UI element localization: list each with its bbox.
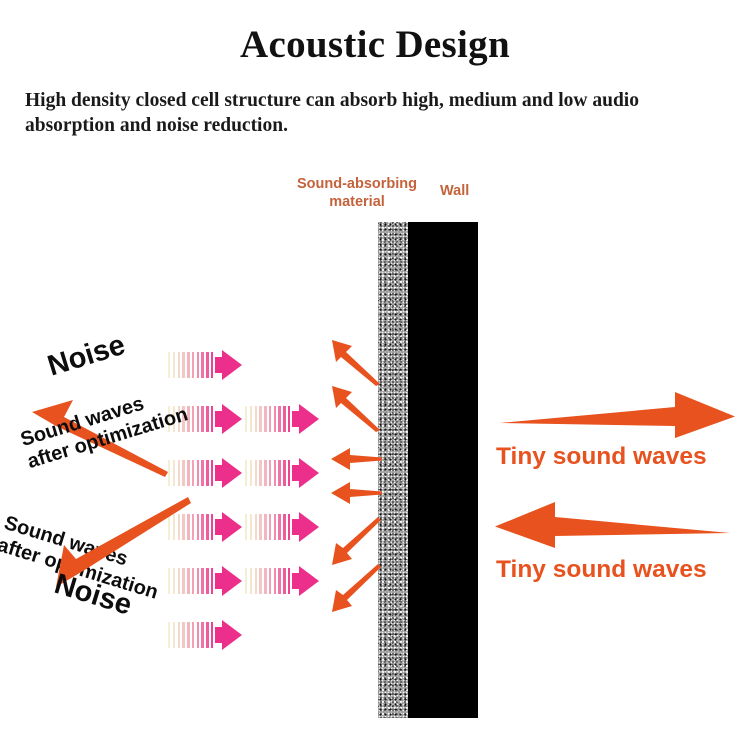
wave-arrow-neck bbox=[215, 465, 222, 481]
wave-bars bbox=[168, 352, 216, 378]
wave-arrow-neck bbox=[215, 519, 222, 535]
reflection-arrow-up-left bbox=[330, 382, 382, 432]
wave-arrow-neck bbox=[292, 573, 299, 589]
wave-arrow-neck bbox=[215, 627, 222, 643]
wave-bars bbox=[245, 460, 293, 486]
wave-bars bbox=[168, 460, 216, 486]
infographic-canvas: Acoustic Design High density closed cell… bbox=[0, 0, 750, 750]
wave-bars bbox=[168, 622, 216, 648]
tiny-sound-waves-caption-right: Tiny sound waves bbox=[496, 443, 707, 471]
wave-arrow-neck bbox=[215, 411, 222, 427]
sound-absorbing-material-texture bbox=[378, 222, 408, 718]
wave-arrow-head bbox=[299, 566, 319, 596]
tiny-sound-waves-caption-left: Tiny sound waves bbox=[496, 556, 707, 584]
reflection-arrow-down-left bbox=[330, 562, 382, 614]
wave-arrow-head bbox=[299, 458, 319, 488]
wave-bars bbox=[245, 568, 293, 594]
wave-arrow-head bbox=[222, 620, 242, 650]
wave-arrow bbox=[245, 404, 319, 434]
page-subtitle: High density closed cell structure can a… bbox=[25, 88, 731, 138]
wave-arrow bbox=[168, 458, 242, 488]
wave-arrow-head bbox=[299, 512, 319, 542]
wall-block bbox=[408, 222, 478, 718]
wave-arrow-neck bbox=[215, 573, 222, 589]
reflection-arrow-left bbox=[330, 480, 382, 506]
wave-arrow bbox=[168, 620, 242, 650]
wall-label: Wall bbox=[440, 183, 530, 199]
wave-arrow-head bbox=[222, 458, 242, 488]
sound-absorbing-material-label: Sound-absorbing material bbox=[272, 175, 442, 211]
wave-arrow-head bbox=[222, 512, 242, 542]
page-title: Acoustic Design bbox=[0, 22, 750, 67]
wave-bars bbox=[245, 406, 293, 432]
wave-arrow-neck bbox=[292, 411, 299, 427]
wave-arrow-head bbox=[299, 404, 319, 434]
wave-bars bbox=[245, 514, 293, 540]
tiny-sound-waves-arrow-left bbox=[495, 500, 730, 550]
wave-arrow-head bbox=[222, 404, 242, 434]
reflection-arrow-up-left bbox=[330, 336, 382, 386]
wave-arrow-neck bbox=[292, 465, 299, 481]
wave-arrow bbox=[245, 458, 319, 488]
wave-arrow-head bbox=[222, 350, 242, 380]
noise-label-top: Noise bbox=[44, 329, 129, 384]
reflection-arrow-down-left bbox=[330, 515, 382, 567]
wave-arrow-head bbox=[222, 566, 242, 596]
wave-arrow bbox=[168, 350, 242, 380]
wave-arrow bbox=[245, 566, 319, 596]
tiny-sound-waves-arrow-right bbox=[500, 390, 735, 440]
wave-arrow-neck bbox=[292, 519, 299, 535]
wave-arrow-neck bbox=[215, 357, 222, 373]
wave-arrow bbox=[245, 512, 319, 542]
reflection-arrow-left bbox=[330, 446, 382, 472]
